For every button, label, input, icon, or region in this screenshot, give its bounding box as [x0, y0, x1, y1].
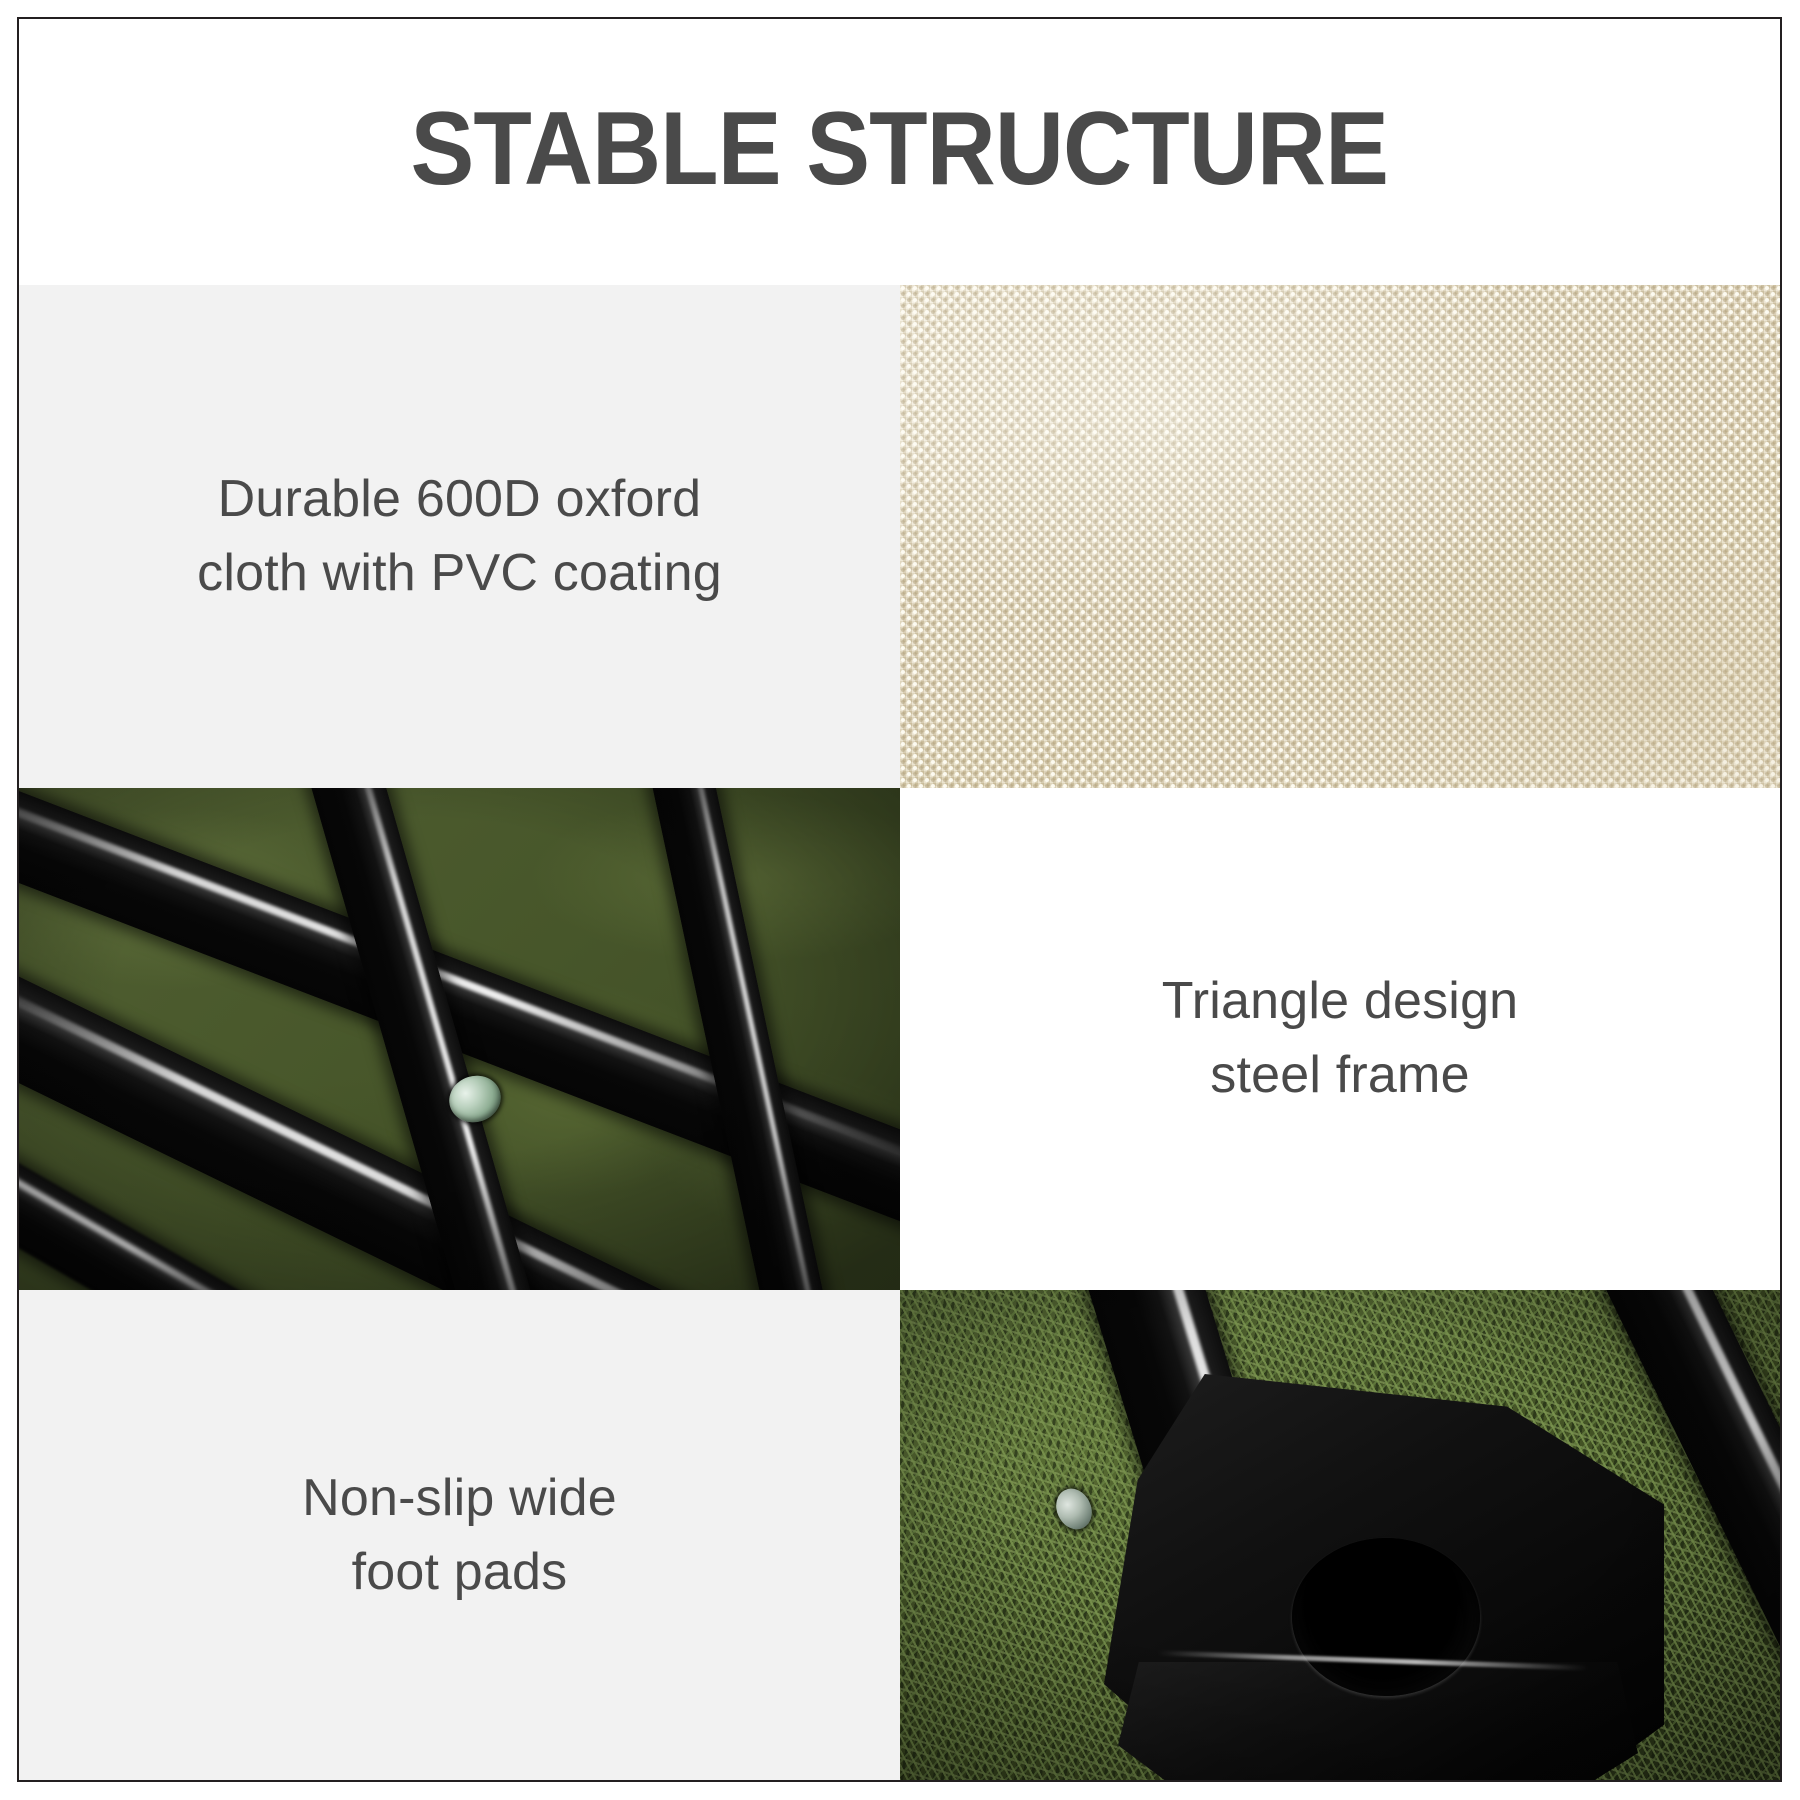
caption-line-1: Durable 600D oxford — [197, 463, 722, 537]
oxford-fabric-texture — [900, 285, 1780, 788]
infographic-root: STABLE STRUCTURE Durable 600D oxford clo… — [0, 0, 1800, 1800]
caption-line-1: Triangle design — [1162, 965, 1519, 1039]
feature-foot-pads-text-panel: Non-slip wide foot pads — [19, 1290, 900, 1782]
feature-steel-frame-caption: Triangle design steel frame — [1162, 965, 1519, 1113]
caption-line-1: Non-slip wide — [302, 1462, 617, 1536]
feature-foot-pads-caption: Non-slip wide foot pads — [302, 1462, 617, 1610]
feature-foot-pads-image — [900, 1290, 1780, 1782]
foot-pad-socket-hole — [1292, 1538, 1480, 1696]
feature-oxford-cloth-text-panel: Durable 600D oxford cloth with PVC coati… — [19, 285, 900, 788]
feature-steel-frame-text-panel: Triangle design steel frame — [900, 788, 1780, 1290]
caption-line-2: foot pads — [302, 1536, 617, 1610]
title-bar: STABLE STRUCTURE — [19, 19, 1780, 285]
feature-oxford-cloth-image — [900, 285, 1780, 788]
feature-oxford-cloth-caption: Durable 600D oxford cloth with PVC coati… — [197, 463, 722, 611]
feature-steel-frame-image — [19, 788, 900, 1290]
caption-line-2: steel frame — [1162, 1039, 1519, 1113]
caption-line-2: cloth with PVC coating — [197, 537, 722, 611]
page-title: STABLE STRUCTURE — [411, 97, 1389, 201]
